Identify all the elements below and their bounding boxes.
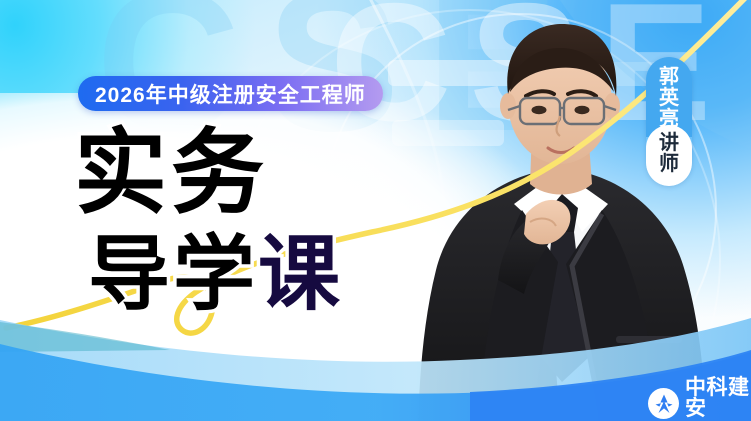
course-category-pill[interactable]: 2026年中级注册安全工程师	[78, 76, 383, 111]
zkjan-star-logo-icon	[648, 388, 679, 419]
headline-block: 实务 导学课	[74, 128, 414, 315]
instructor-name-char-1: 郭	[646, 67, 692, 88]
course-promo-banner: CSE CSE	[0, 0, 751, 421]
headline-line-2: 导学课	[88, 235, 414, 315]
headline-line-2-tail: 课	[258, 229, 343, 320]
instructor-name-char-2: 英	[646, 88, 692, 109]
instructor-role-char-1: 讲	[646, 133, 692, 154]
instructor-role: 讲 师	[646, 125, 692, 186]
instructor-role-char-2: 师	[646, 154, 692, 175]
brand-text-block: 中科建安 www.zkjan.com	[685, 377, 751, 421]
brand-logo[interactable]: 中科建安 www.zkjan.com	[648, 377, 751, 421]
course-category-label: 2026年中级注册安全工程师	[95, 79, 366, 109]
instructor-tag[interactable]: 郭 英 亮 讲 师	[646, 57, 692, 186]
headline-line-2-main: 导学	[88, 229, 258, 320]
headline-line-1: 实务	[74, 128, 414, 219]
brand-name: 中科建安	[685, 377, 751, 419]
zkjan-mark-glyph	[651, 391, 677, 417]
